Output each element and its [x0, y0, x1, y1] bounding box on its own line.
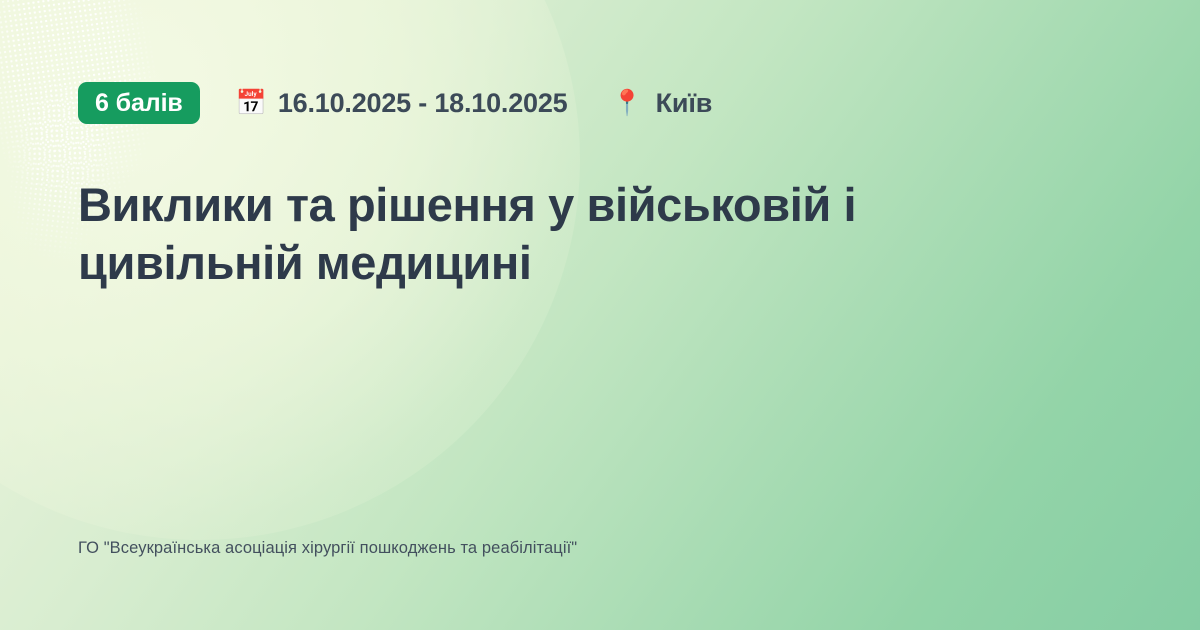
event-banner-card: 6 балів 📅 16.10.2025 - 18.10.2025 📍 Київ…: [0, 0, 1200, 630]
event-title: Виклики та рішення у військовій і цивіль…: [78, 176, 1038, 293]
credit-points-badge: 6 балів: [78, 82, 200, 124]
banner-content: 6 балів 📅 16.10.2025 - 18.10.2025 📍 Київ…: [0, 0, 1200, 630]
event-date-range: 16.10.2025 - 18.10.2025: [278, 88, 568, 119]
event-meta-row: 6 балів 📅 16.10.2025 - 18.10.2025 📍 Київ: [78, 82, 1122, 124]
location-pin-icon: 📍: [612, 91, 643, 116]
calendar-icon: 📅: [236, 91, 267, 116]
event-location: Київ: [656, 88, 712, 119]
event-organizer: ГО "Всеукраїнська асоціація хірургії пош…: [78, 539, 1122, 558]
event-location-group: 📍 Київ: [612, 88, 713, 119]
event-date-group: 📅 16.10.2025 - 18.10.2025: [236, 88, 568, 119]
